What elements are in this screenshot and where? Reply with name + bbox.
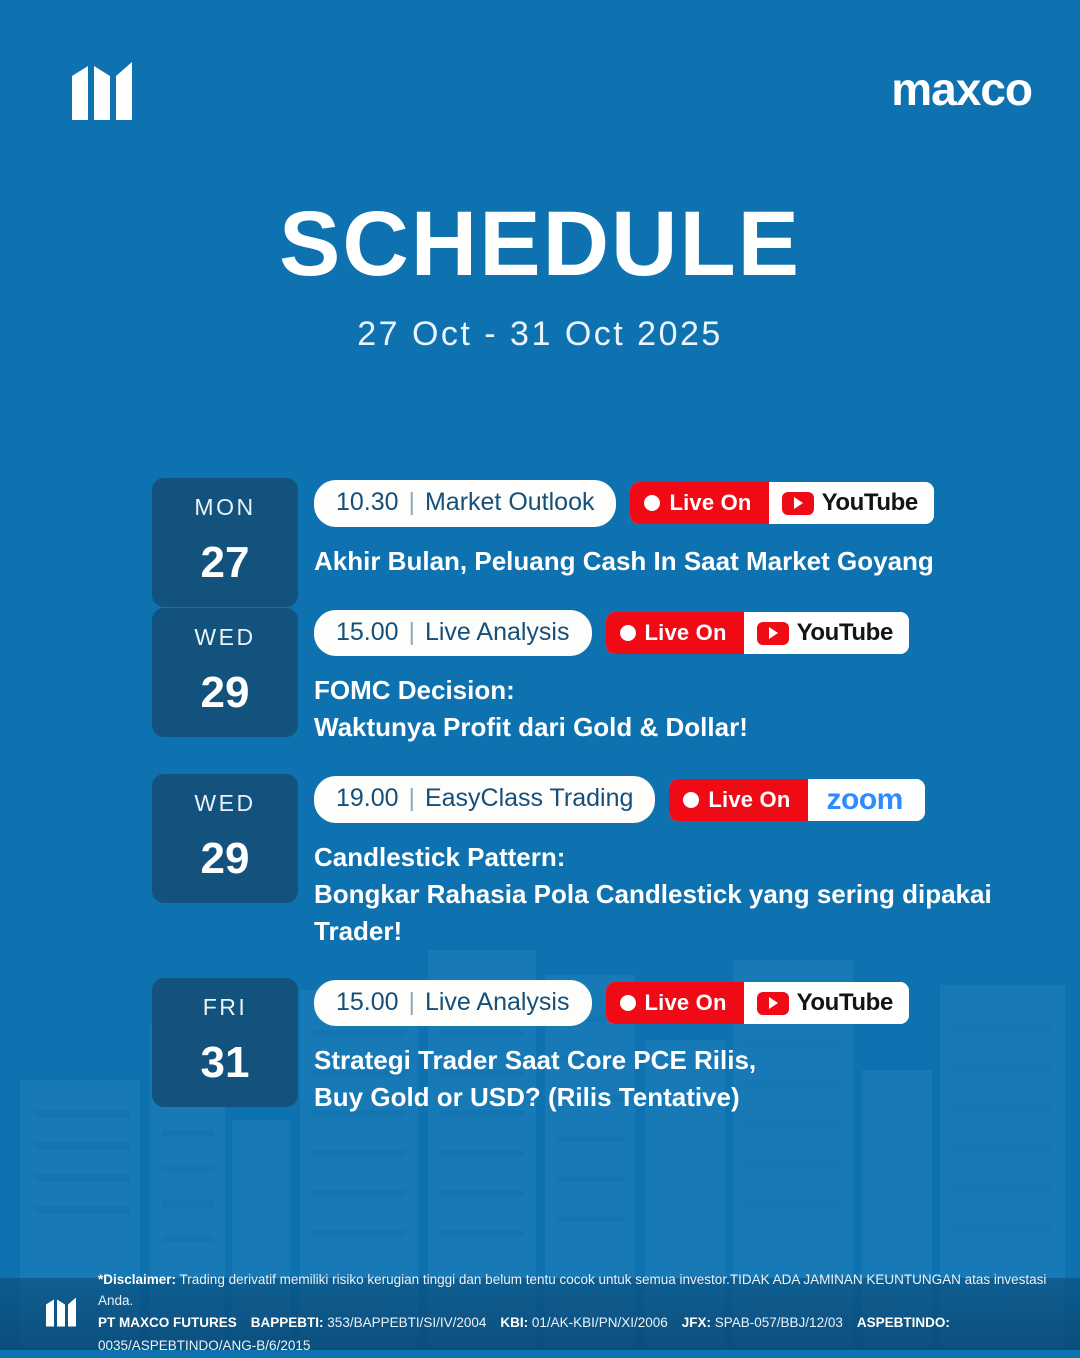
- license-value: 353/BAPPEBTI/SI/IV/2004: [327, 1315, 486, 1330]
- license-line: PT MAXCO FUTURESBAPPEBTI: 353/BAPPEBTI/S…: [98, 1312, 1080, 1358]
- wordmark-part-2: co: [980, 66, 1032, 112]
- time-program-pill: 15.00 | Live Analysis: [314, 610, 592, 657]
- wordmark-part-1: ma: [891, 66, 955, 112]
- time-program-pill: 10.30 | Market Outlook: [314, 480, 616, 527]
- live-dot-icon: [620, 625, 636, 641]
- program-name: Live Analysis: [425, 618, 570, 646]
- session-title: FOMC Decision: Waktunya Profit dari Gold…: [314, 672, 1040, 746]
- date-box: FRI 31: [152, 978, 298, 1107]
- day-number: 27: [152, 541, 298, 585]
- session-title-line: Bongkar Rahasia Pola Candlestick yang se…: [314, 876, 1040, 950]
- live-on-label: Live On: [645, 992, 727, 1014]
- session-title-line: Waktunya Profit dari Gold & Dollar!: [314, 709, 1040, 746]
- live-on-youtube-badge[interactable]: Live On YouTube: [606, 982, 909, 1024]
- day-of-week: MON: [152, 496, 298, 519]
- program-name: Market Outlook: [425, 488, 595, 516]
- wordmark-x: x: [956, 66, 981, 112]
- date-range: 27 Oct - 31 Oct 2025: [0, 315, 1080, 354]
- live-dot-icon: [683, 792, 699, 808]
- live-on-label: Live On: [645, 622, 727, 644]
- live-dot-icon: [644, 495, 660, 511]
- time-value: 15.00: [336, 618, 399, 646]
- time-program-pill: 15.00 | Live Analysis: [314, 980, 592, 1027]
- date-box: MON 27: [152, 478, 298, 607]
- session-title: Candlestick Pattern: Bongkar Rahasia Pol…: [314, 839, 1040, 950]
- live-on-youtube-badge[interactable]: Live On YouTube: [630, 482, 933, 524]
- platform-label: zoom: [821, 785, 909, 815]
- youtube-play-icon: [757, 992, 789, 1015]
- live-on-label-group: Live On: [630, 482, 768, 524]
- session-title-line: Candlestick Pattern:: [314, 839, 1040, 876]
- title-block: SCHEDULE 27 Oct - 31 Oct 2025: [0, 196, 1080, 354]
- license-label: JFX:: [682, 1315, 711, 1330]
- platform-group: YouTube: [744, 612, 909, 654]
- platform-group: YouTube: [769, 482, 934, 524]
- live-on-zoom-badge[interactable]: Live On zoom: [669, 779, 924, 821]
- license-label: KBI:: [500, 1315, 528, 1330]
- schedule-list: MON 27 10.30 | Market Outlook Live On: [152, 478, 1040, 1116]
- session-title-line: Strategi Trader Saat Core PCE Rilis,: [314, 1042, 1040, 1079]
- maxco-m-logo-icon: [46, 1297, 82, 1332]
- program-name: Live Analysis: [425, 988, 570, 1016]
- page-header: ma x co: [72, 62, 1032, 124]
- license-label: BAPPEBTI:: [251, 1315, 324, 1330]
- pill-separator: |: [406, 488, 419, 516]
- pill-separator: |: [406, 988, 419, 1016]
- youtube-play-icon: [782, 492, 814, 515]
- schedule-row: WED 29 19.00 | EasyClass Trading Live On…: [152, 774, 1040, 949]
- time-value: 15.00: [336, 988, 399, 1016]
- session-title-line: Akhir Bulan, Peluang Cash In Saat Market…: [314, 543, 1040, 580]
- day-of-week: WED: [152, 626, 298, 649]
- platform-group: YouTube: [744, 982, 909, 1024]
- live-on-label-group: Live On: [669, 779, 807, 821]
- time-value: 10.30: [336, 488, 399, 516]
- license-value: 0035/ASPEBTINDO/ANG-B/6/2015: [98, 1338, 310, 1353]
- day-of-week: WED: [152, 792, 298, 815]
- date-box: WED 29: [152, 774, 298, 903]
- session-title-line: Buy Gold or USD? (Rilis Tentative): [314, 1079, 1040, 1116]
- platform-label: YouTube: [797, 991, 893, 1015]
- youtube-play-icon: [757, 622, 789, 645]
- disclaimer-label: *Disclaimer:: [98, 1272, 176, 1287]
- schedule-row: FRI 31 15.00 | Live Analysis Live On: [152, 978, 1040, 1117]
- day-number: 29: [152, 671, 298, 715]
- live-on-label: Live On: [708, 789, 790, 811]
- live-on-label: Live On: [669, 492, 751, 514]
- day-of-week: FRI: [152, 996, 298, 1019]
- maxco-wordmark: ma x co: [891, 66, 1032, 112]
- session-title-line: FOMC Decision:: [314, 672, 1040, 709]
- schedule-row: WED 29 15.00 | Live Analysis Live On: [152, 608, 1040, 747]
- live-on-label-group: Live On: [606, 612, 744, 654]
- disclaimer-text: Trading derivatif memiliki risiko kerugi…: [98, 1272, 1046, 1308]
- day-number: 29: [152, 837, 298, 881]
- time-program-pill: 19.00 | EasyClass Trading: [314, 776, 655, 823]
- platform-label: YouTube: [797, 621, 893, 645]
- footer-disclaimer-bar: *Disclaimer: Trading derivatif memiliki …: [0, 1278, 1080, 1350]
- live-on-youtube-badge[interactable]: Live On YouTube: [606, 612, 909, 654]
- license-value: 01/AK-KBI/PN/XI/2006: [532, 1315, 668, 1330]
- day-number: 31: [152, 1041, 298, 1085]
- page-title: SCHEDULE: [0, 196, 1080, 293]
- company-name: PT MAXCO FUTURES: [98, 1315, 237, 1330]
- time-value: 19.00: [336, 784, 399, 812]
- program-name: EasyClass Trading: [425, 784, 633, 812]
- disclaimer-line: *Disclaimer: Trading derivatif memiliki …: [98, 1270, 1080, 1312]
- session-title: Akhir Bulan, Peluang Cash In Saat Market…: [314, 543, 1040, 580]
- schedule-row: MON 27 10.30 | Market Outlook Live On: [152, 478, 1040, 580]
- live-on-label-group: Live On: [606, 982, 744, 1024]
- maxco-m-logo-icon: [72, 62, 144, 125]
- pill-separator: |: [406, 618, 419, 646]
- license-value: SPAB-057/BBJ/12/03: [715, 1315, 843, 1330]
- pill-separator: |: [406, 784, 419, 812]
- session-title: Strategi Trader Saat Core PCE Rilis, Buy…: [314, 1042, 1040, 1116]
- platform-label: YouTube: [822, 491, 918, 515]
- license-label: ASPEBTINDO:: [857, 1315, 950, 1330]
- platform-group: zoom: [808, 779, 925, 821]
- date-box: WED 29: [152, 608, 298, 737]
- live-dot-icon: [620, 995, 636, 1011]
